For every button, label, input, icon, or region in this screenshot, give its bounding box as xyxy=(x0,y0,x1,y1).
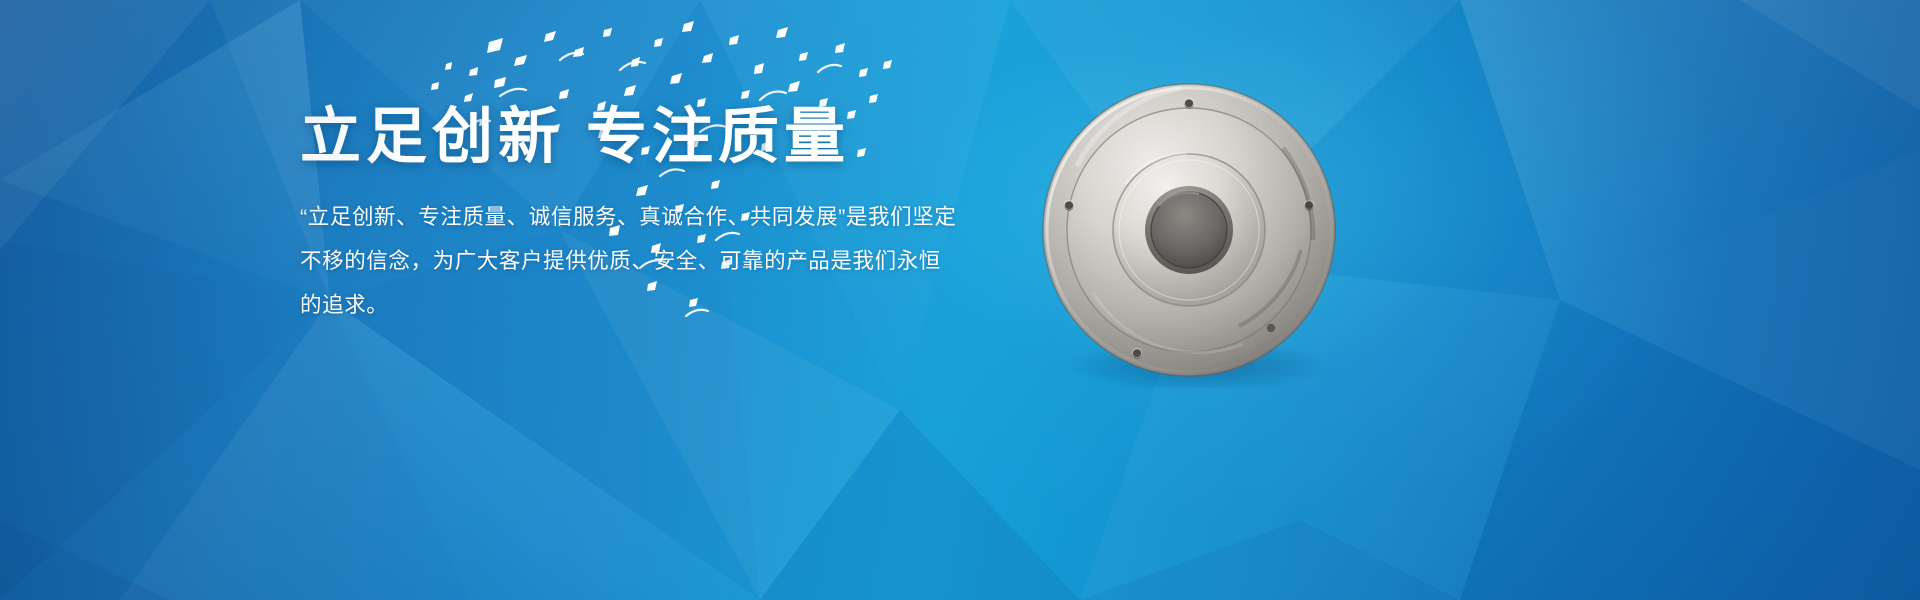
background-vignette xyxy=(0,0,1920,600)
hero-banner: 立足创新专注质量 “立足创新、专注质量、诚信服务、真诚合作、共同发展”是我们坚定… xyxy=(0,0,1920,600)
